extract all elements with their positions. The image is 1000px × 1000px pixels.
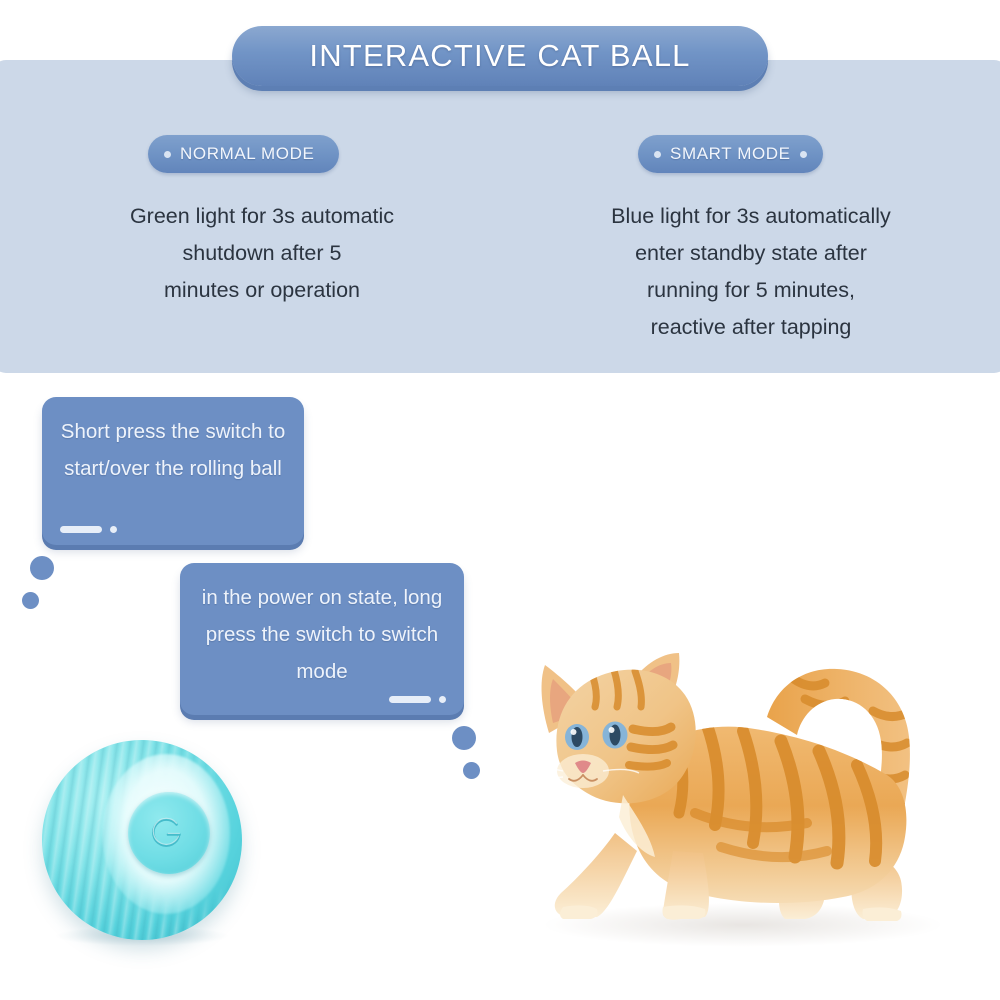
page-title: INTERACTIVE CAT BALL: [232, 26, 768, 86]
description-line: running for 5 minutes,: [545, 272, 957, 309]
kitten-image: [505, 625, 985, 970]
infographic-page: INTERACTIVE CAT BALL NORMAL MODE SMART M…: [0, 0, 1000, 1000]
deco-dot-icon: [110, 526, 117, 533]
badge-dot-left-icon: [654, 151, 661, 158]
badge-smart-mode: SMART MODE: [638, 135, 823, 173]
bubble-trail-dot-icon: [22, 592, 39, 609]
power-icon: [149, 813, 189, 853]
bubble-decoration: [389, 696, 446, 703]
instruction-bubble-text: Short press the switch to start/over the…: [42, 397, 304, 487]
bubble-trail-dot-icon: [463, 762, 480, 779]
badge-dot-left-icon: [164, 151, 171, 158]
description-line: enter standby state after: [545, 235, 957, 272]
badge-dot-right-icon: [800, 151, 807, 158]
description-line: Blue light for 3s automatically: [545, 198, 957, 235]
description-line: shutdown after 5: [62, 235, 462, 272]
normal-mode-description: Green light for 3s automatic shutdown af…: [62, 198, 462, 309]
bubble-trail-dot-icon: [452, 726, 476, 750]
badge-normal-mode-label: NORMAL MODE: [180, 144, 314, 164]
bubble-trail-dot-icon: [30, 556, 54, 580]
instruction-bubble-short-press: Short press the switch to start/over the…: [42, 397, 304, 545]
deco-bar-icon: [60, 526, 102, 533]
deco-bar-icon: [389, 696, 431, 703]
ball-power-button: [128, 792, 210, 874]
page-title-text: INTERACTIVE CAT BALL: [309, 38, 690, 74]
instruction-bubble-long-press: in the power on state, long press the sw…: [180, 563, 464, 715]
description-line: Green light for 3s automatic: [62, 198, 462, 235]
bubble-decoration: [60, 526, 117, 533]
badge-smart-mode-label: SMART MODE: [670, 144, 791, 164]
ball-body: [42, 740, 242, 940]
smart-mode-description: Blue light for 3s automatically enter st…: [545, 198, 957, 346]
kitten-muzzle: [557, 754, 609, 788]
kitten-illustration: [505, 625, 985, 970]
deco-dot-icon: [439, 696, 446, 703]
description-line: reactive after tapping: [545, 309, 957, 346]
badge-normal-mode: NORMAL MODE: [148, 135, 339, 173]
description-line: minutes or operation: [62, 272, 462, 309]
instruction-bubble-text: in the power on state, long press the sw…: [180, 563, 464, 690]
product-image-cat-ball: [42, 740, 242, 940]
